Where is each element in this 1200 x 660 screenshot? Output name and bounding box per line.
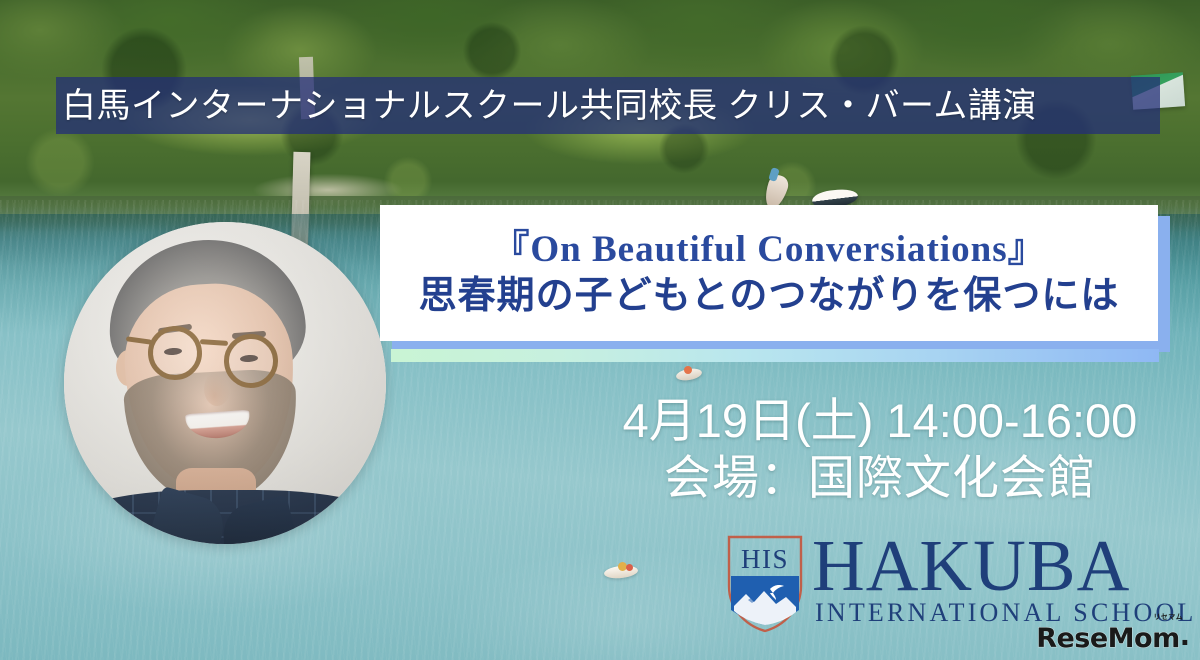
title-english: 『On Beautiful Conversiations』 bbox=[492, 230, 1045, 271]
event-venue: 会場：国際文化会館 bbox=[600, 449, 1160, 506]
speaker-photo bbox=[64, 222, 386, 544]
shield-icon: HIS bbox=[726, 534, 804, 634]
svg-text:HIS: HIS bbox=[741, 544, 789, 574]
watermark-ruby: リセマム bbox=[1153, 612, 1183, 622]
event-date: 4月19日(土) 14:00-16:00 bbox=[600, 392, 1160, 449]
logo-wordmark: HAKUBA INTERNATIONAL SCHOOL bbox=[812, 532, 1197, 626]
watermark-dot: . bbox=[1180, 621, 1190, 652]
watermark-text: ReseMom bbox=[1036, 625, 1180, 652]
headline-text: 白馬インターナショナルスクール共同校長 クリス・バーム講演 bbox=[56, 89, 1037, 123]
event-poster: 白馬インターナショナルスクール共同校長 クリス・バーム講演 bbox=[0, 0, 1200, 660]
event-details: 4月19日(土) 14:00-16:00 会場：国際文化会館 bbox=[600, 392, 1160, 507]
portrait-vignette bbox=[64, 222, 386, 544]
title-gradient-accent bbox=[391, 349, 1159, 362]
kayak-upper-paddler bbox=[684, 366, 692, 374]
resemom-watermark: ReseMom . リセマム bbox=[1036, 621, 1190, 652]
logo-name: HAKUBA bbox=[812, 532, 1197, 599]
headline-banner: 白馬インターナショナルスクール共同校長 クリス・バーム講演 bbox=[56, 77, 1160, 134]
title-japanese: 思春期の子どもとのつながりを保つには bbox=[419, 273, 1120, 317]
title-card: 『On Beautiful Conversiations』 思春期の子どもとのつ… bbox=[380, 205, 1158, 341]
speaker-portrait bbox=[64, 222, 386, 544]
kayak-lower-paddler-b bbox=[626, 564, 633, 571]
